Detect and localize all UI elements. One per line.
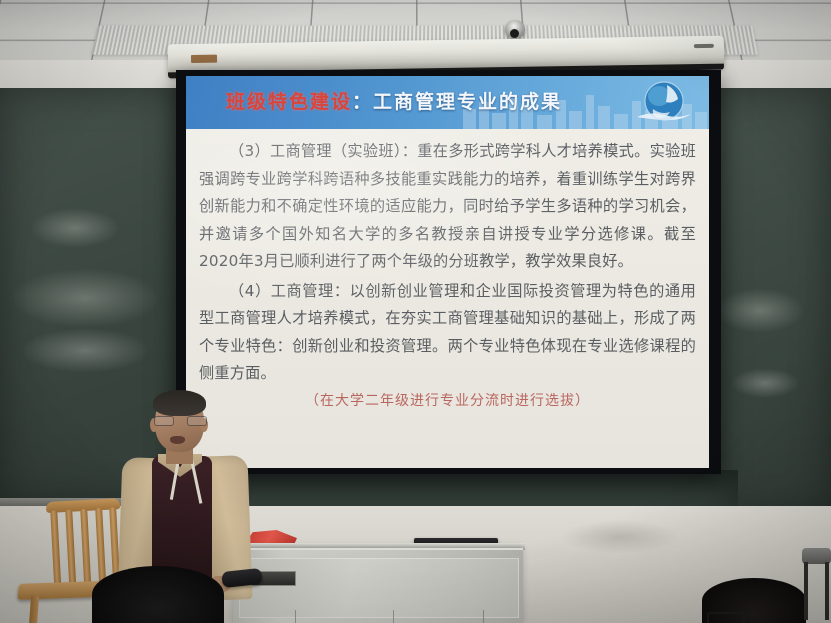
slide-title-highlight: 班级特色建设 (226, 91, 352, 113)
audience-head-left (92, 566, 224, 623)
slide-title-band: 班级特色建设：工商管理专业的成果 (186, 76, 709, 129)
classroom-photo-scene: 班级特色建设：工商管理专业的成果 （3）工商管理（实验班）：重在多形式跨学科人才… (0, 0, 831, 623)
ceiling-dome-camera-icon (505, 20, 525, 38)
slide-paragraph-4: （4）工商管理：以创新创业管理和企业国际投资管理为特色的通用型工商管理人才培养模… (199, 278, 696, 388)
slide-title: 班级特色建设：工商管理专业的成果 (226, 87, 562, 114)
presenter-glasses-icon (154, 416, 205, 424)
handheld-device[interactable] (221, 568, 262, 588)
globe-icon (633, 79, 695, 127)
presenter-mouth (170, 436, 185, 444)
metal-chair[interactable] (800, 548, 831, 623)
slide-title-separator: ： (352, 91, 373, 113)
roller-endcap (694, 44, 714, 48)
slide-title-rest: 工商管理专业的成果 (373, 91, 562, 113)
roller-brand-logo (191, 55, 217, 63)
presenter-hair (153, 390, 206, 416)
slide-paragraph-3: （3）工商管理（实验班）：重在多形式跨学科人才培养模式。实验班强调跨专业跨学科跨… (199, 138, 696, 276)
audience-glasses-icon (707, 612, 745, 623)
